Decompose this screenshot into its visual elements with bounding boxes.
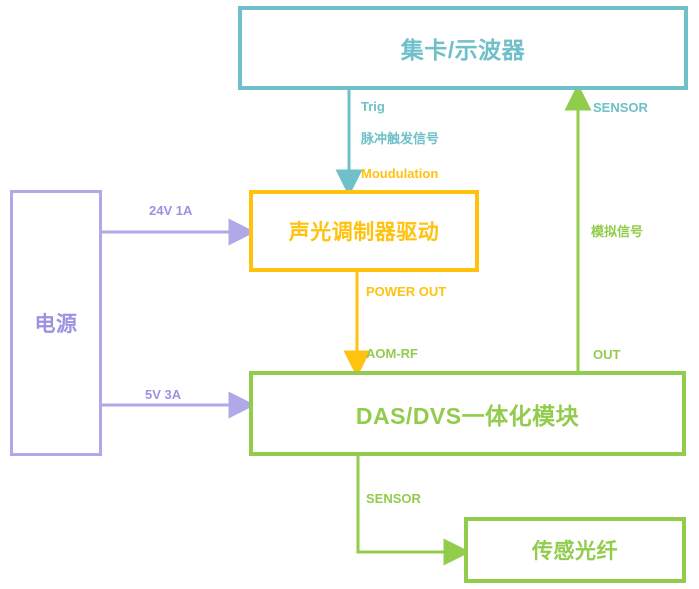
node-aom-driver-label: 声光调制器驱动 bbox=[289, 216, 440, 246]
node-acquisition-card-oscilloscope-label: 集卡/示波器 bbox=[401, 31, 525, 65]
node-sensing-fiber[interactable]: 传感光纤 bbox=[464, 517, 686, 583]
block-diagram: 集卡/示波器 声光调制器驱动 电源 DAS/DVS一体化模块 传感光纤 Trig… bbox=[0, 0, 699, 589]
node-das-dvs-module[interactable]: DAS/DVS一体化模块 bbox=[249, 371, 686, 456]
edge-label-out: OUT bbox=[593, 347, 620, 362]
edge-label-aom-rf: AOM-RF bbox=[366, 346, 418, 361]
edge-label-sensor-bottom: SENSOR bbox=[366, 491, 421, 506]
edge-label-moudulation: Moudulation bbox=[361, 166, 438, 181]
node-power-supply-label: 电源 bbox=[35, 308, 78, 338]
edge-label-power-out: POWER OUT bbox=[366, 284, 446, 299]
edge-label-sensor-top: SENSOR bbox=[593, 100, 648, 115]
node-aom-driver[interactable]: 声光调制器驱动 bbox=[249, 190, 479, 272]
node-power-supply[interactable]: 电源 bbox=[10, 190, 102, 456]
node-das-dvs-module-label: DAS/DVS一体化模块 bbox=[356, 397, 579, 431]
node-acquisition-card-oscilloscope[interactable]: 集卡/示波器 bbox=[238, 6, 688, 90]
node-sensing-fiber-label: 传感光纤 bbox=[532, 535, 618, 565]
edge-label-5v-3a: 5V 3A bbox=[145, 387, 181, 402]
edge-label-trig-chinese: 脉冲触发信号 bbox=[361, 128, 439, 147]
edge-label-24v-1a: 24V 1A bbox=[149, 203, 192, 218]
edge-label-trig: Trig bbox=[361, 99, 385, 114]
edge-label-analog-signal: 模拟信号 bbox=[591, 221, 643, 240]
